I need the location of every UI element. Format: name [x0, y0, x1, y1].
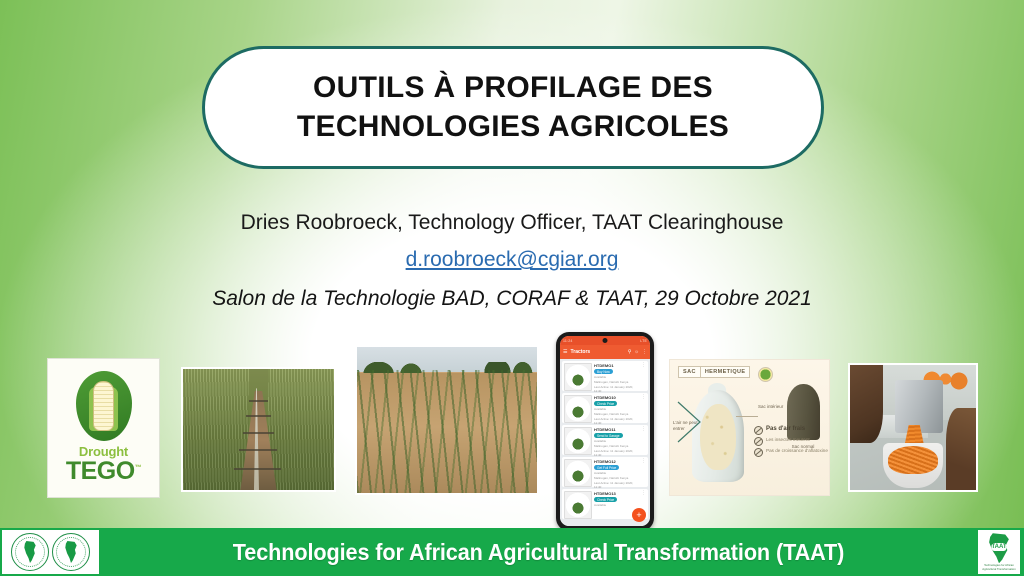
phone-status-bar: 11:24 LTE — [560, 336, 650, 345]
more-vertical-icon[interactable]: ⋮ — [641, 395, 646, 421]
drip-emitter — [243, 432, 273, 434]
search-icon[interactable]: ⚲ — [628, 350, 632, 355]
card-body: HTDEMO12 Get Full Price Available Malino… — [594, 459, 639, 485]
item-last-active: Last Active: 11 January 2020, 11:40 — [594, 385, 639, 393]
phone-screen: 11:24 LTE ☰ Tractors ⚲ ☼ ⋮ HTDEMO1 Buy N… — [560, 336, 650, 526]
item-badge[interactable]: Get Full Price — [594, 465, 619, 470]
tractor-thumbnail — [564, 395, 592, 423]
taat-wordmark: TAAT — [991, 544, 1006, 550]
more-vertical-icon[interactable]: ⋮ — [641, 459, 646, 485]
email-line: d.roobroeck@cgiar.org — [0, 241, 1024, 278]
no-air-icon — [754, 426, 763, 435]
wheat-left — [183, 369, 249, 490]
list-item[interactable]: HTDEMO1 Buy Now Available Malinogan, Nai… — [562, 361, 648, 391]
item-title: HTDEMO13 — [594, 491, 639, 496]
card-body: HTDEMO11 Send to Garage Available Malino… — [594, 427, 639, 453]
drip-emitter — [246, 415, 270, 417]
benefit-list: Pas d'air frais Les insectes meurent Pas… — [754, 426, 828, 459]
item-badge[interactable]: Buy Now — [594, 369, 613, 374]
item-last-active: Last Active: 11 January 2020, 11:40 — [594, 481, 639, 489]
africa-map-icon — [64, 541, 79, 563]
item-last-active: Last Active: 11 January 2020, 11:40 — [594, 417, 639, 425]
wheat-right — [268, 369, 334, 490]
maize-cob-icon — [76, 371, 132, 441]
item-status: Available — [594, 503, 639, 507]
grating-machine — [895, 380, 943, 433]
taat-africa-wrap: TAAT — [986, 533, 1012, 563]
africa-map-icon — [23, 541, 38, 563]
slide-title-box: OUTILS À PROFILAGE DES TECHNOLOGIES AGRI… — [202, 46, 824, 169]
front-camera — [603, 338, 608, 343]
item-location: Malinogan, Nairobi Kenya — [594, 412, 639, 416]
item-badge[interactable]: Check Price — [594, 401, 617, 406]
item-location: Malinogan, Nairobi Kenya — [594, 476, 639, 480]
auc-logo-icon — [52, 533, 90, 571]
no-aflatoxin-icon — [754, 448, 763, 457]
app-bar: ☰ Tractors ⚲ ☼ ⋮ — [560, 345, 650, 359]
air-arrow — [676, 400, 702, 444]
more-vertical-icon[interactable]: ⋮ — [641, 427, 646, 453]
notification-icon[interactable]: ☼ — [634, 350, 639, 355]
header-hermetique: HERMETIQUE — [700, 367, 750, 377]
mobile-app-screenshot: 11:24 LTE ☰ Tractors ⚲ ☼ ⋮ HTDEMO1 Buy N… — [556, 332, 654, 531]
item-title: HTDEMO1 — [594, 363, 639, 368]
banner-title: Technologies for African Agricultural Tr… — [125, 539, 951, 566]
benefit-item: Pas de croissance d'aflatoxine — [754, 448, 828, 457]
item-title: HTDEMO10 — [594, 395, 639, 400]
inner-bag-label: Sac intérieur — [758, 404, 794, 410]
no-insect-icon — [754, 437, 763, 446]
status-network: LTE — [640, 339, 647, 343]
leader-line — [736, 416, 758, 417]
item-status: Available — [594, 471, 639, 475]
header-sac: SAC — [679, 367, 700, 377]
tractor-thumbnail — [564, 427, 592, 455]
diagram-header: SAC HERMETIQUE — [678, 366, 750, 378]
item-title: HTDEMO11 — [594, 427, 639, 432]
benefit-item: Pas d'air frais — [754, 426, 828, 435]
millet-plants — [357, 370, 537, 493]
millet-field-photo — [355, 345, 539, 495]
taat-logo: TAAT Technologies for African Agricultur… — [978, 530, 1020, 574]
more-vertical-icon[interactable]: ⋮ — [642, 350, 647, 355]
list-item[interactable]: HTDEMO12 Get Full Price Available Malino… — [562, 457, 648, 487]
drip-emitter — [239, 449, 277, 451]
event-line: Salon de la Technologie BAD, CORAF & TAA… — [0, 279, 1024, 318]
drip-irrigation-wheat-photo — [181, 367, 336, 492]
item-badge[interactable]: Send to Garage — [594, 433, 623, 438]
footer-banner: Technologies for African Agricultural Tr… — [0, 528, 1024, 576]
slide-subtitle-block: Dries Roobroeck, Technology Officer, TAA… — [0, 204, 1024, 318]
presenter-line: Dries Roobroeck, Technology Officer, TAA… — [0, 204, 1024, 241]
app-bar-title: Tractors — [570, 349, 624, 355]
grated-sweet-potato — [888, 446, 939, 474]
card-body: HTDEMO1 Buy Now Available Malinogan, Nai… — [594, 363, 639, 389]
benefit-item: Les insectes meurent — [754, 437, 828, 446]
slide-title-line-1: OUTILS À PROFILAGE DES — [313, 69, 713, 107]
operator-right — [946, 408, 976, 491]
benefit-text: Les insectes meurent — [766, 437, 810, 443]
afdb-auc-logos — [2, 530, 99, 574]
list-item[interactable]: HTDEMO10 Check Price Available Malinogan… — [562, 393, 648, 423]
benefit-text: Pas d'air frais — [766, 426, 805, 432]
card-body: HTDEMO10 Check Price Available Malinogan… — [594, 395, 639, 421]
tractor-thumbnail — [564, 491, 592, 519]
status-time: 11:24 — [563, 339, 573, 343]
drought-tego-logo: Drought TEGO™ — [47, 358, 160, 498]
item-location: Malinogan, Nairobi Kenya — [594, 380, 639, 384]
hamburger-icon[interactable]: ☰ — [563, 350, 567, 355]
item-last-active: Last Active: 11 January 2020, 11:40 — [594, 449, 639, 457]
tego-wordmark: TEGO — [66, 457, 135, 485]
drip-emitter — [234, 468, 281, 470]
afdb-logo-icon — [11, 533, 49, 571]
program-logo-icon — [758, 367, 773, 382]
presentation-slide: OUTILS À PROFILAGE DES TECHNOLOGIES AGRI… — [0, 0, 1024, 576]
grain-fill — [700, 404, 736, 470]
sweet-potato-grating-photo — [848, 363, 978, 492]
tractor-thumbnail — [564, 363, 592, 391]
tractor-thumbnail — [564, 459, 592, 487]
tego-caption-bottom: TEGO™ — [66, 458, 141, 484]
email-link[interactable]: d.roobroeck@cgiar.org — [406, 248, 619, 271]
hermetic-bag-diagram: SAC HERMETIQUE Sac normal Sac intérieur … — [669, 359, 830, 496]
item-status: Available — [594, 439, 639, 443]
item-status: Available — [594, 407, 639, 411]
item-badge[interactable]: Check Price — [594, 497, 617, 502]
item-status: Available — [594, 375, 639, 379]
item-location: Malinogan, Nairobi Kenya — [594, 444, 639, 448]
item-title: HTDEMO12 — [594, 459, 639, 464]
add-button[interactable]: + — [632, 508, 646, 522]
slide-title-line-2: TECHNOLOGIES AGRICOLES — [297, 108, 729, 146]
more-vertical-icon[interactable]: ⋮ — [641, 363, 646, 389]
operator-left — [850, 365, 883, 443]
collection-bowl — [883, 443, 943, 488]
trademark-symbol: ™ — [135, 465, 142, 472]
list-item[interactable]: HTDEMO11 Send to Garage Available Malino… — [562, 425, 648, 455]
taat-tagline: Technologies for African Agricultural Tr… — [978, 564, 1020, 570]
drip-emitter — [249, 400, 267, 402]
benefit-text: Pas de croissance d'aflatoxine — [766, 448, 828, 454]
tractor-list[interactable]: HTDEMO1 Buy Now Available Malinogan, Nai… — [560, 359, 650, 526]
cob-graphic — [93, 381, 114, 431]
